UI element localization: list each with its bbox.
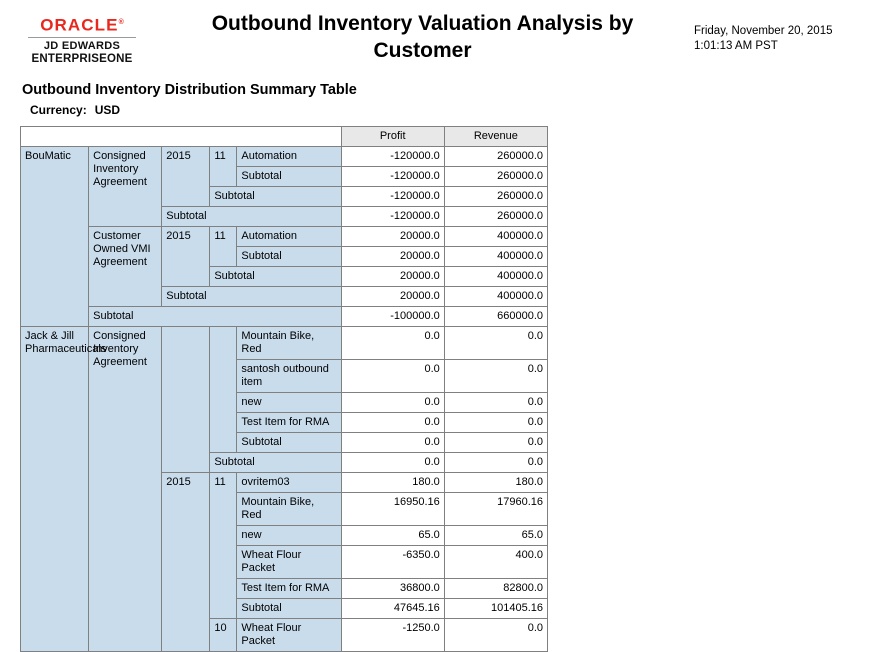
cell-customer: Jack & Jill Pharmaceuticals — [21, 327, 89, 652]
cell-item: santosh outbound item — [237, 360, 341, 393]
table-row: Jack & Jill Pharmaceuticals Consigned In… — [21, 327, 548, 360]
cell-agreement: Consigned Inventory Agreement — [89, 147, 162, 227]
table-row: Customer Owned VMI Agreement 2015 11 Aut… — [21, 227, 548, 247]
cell-profit: 20000.0 — [341, 287, 444, 307]
cell-period — [210, 327, 237, 453]
cell-year — [162, 327, 210, 473]
cell-item: new — [237, 393, 341, 413]
trademark-symbol: ® — [119, 19, 124, 26]
cell-year-subtotal: Subtotal — [162, 287, 341, 307]
cell-revenue: 180.0 — [444, 473, 547, 493]
logo-jd-edwards-text: JD EDWARDS — [26, 40, 138, 53]
currency-label: Currency: — [30, 103, 87, 117]
cell-profit: -6350.0 — [341, 546, 444, 579]
cell-revenue: 0.0 — [444, 619, 547, 652]
cell-profit: 16950.16 — [341, 493, 444, 526]
cell-profit: 0.0 — [341, 453, 444, 473]
cell-profit: 0.0 — [341, 393, 444, 413]
cell-year-subtotal: Subtotal — [162, 207, 341, 227]
cell-item: new — [237, 526, 341, 546]
cell-profit: 0.0 — [341, 433, 444, 453]
cell-revenue: 400.0 — [444, 546, 547, 579]
cell-item: Wheat Flour Packet — [237, 619, 341, 652]
currency-row: Currency:USD — [30, 103, 887, 117]
cell-year: 2015 — [162, 227, 210, 287]
cell-period-subtotal: Subtotal — [210, 453, 341, 473]
cell-revenue: 260000.0 — [444, 147, 547, 167]
cell-profit: 0.0 — [341, 413, 444, 433]
report-timestamp: Friday, November 20, 2015 1:01:13 AM PST — [694, 24, 833, 54]
currency-value: USD — [95, 103, 120, 117]
cell-revenue: 0.0 — [444, 360, 547, 393]
cell-item: Wheat Flour Packet — [237, 546, 341, 579]
cell-revenue: 65.0 — [444, 526, 547, 546]
cell-profit: -120000.0 — [341, 147, 444, 167]
cell-profit: 0.0 — [341, 360, 444, 393]
cell-profit: 180.0 — [341, 473, 444, 493]
cell-profit: -120000.0 — [341, 187, 444, 207]
summary-table-container: Profit Revenue BouMatic Consigned Invent… — [20, 126, 550, 652]
cell-profit: 20000.0 — [341, 247, 444, 267]
cell-profit: 20000.0 — [341, 227, 444, 247]
cell-period: 10 — [210, 619, 237, 652]
cell-revenue: 660000.0 — [444, 307, 547, 327]
cell-revenue: 0.0 — [444, 327, 547, 360]
cell-revenue: 0.0 — [444, 413, 547, 433]
cell-item-subtotal: Subtotal — [237, 247, 341, 267]
report-header: ORACLE® JD EDWARDS ENTERPRISEONE Outboun… — [0, 0, 887, 72]
cell-agreement: Customer Owned VMI Agreement — [89, 227, 162, 307]
cell-revenue: 260000.0 — [444, 207, 547, 227]
cell-profit: 20000.0 — [341, 267, 444, 287]
cell-customer-subtotal: Subtotal — [89, 307, 341, 327]
cell-profit: 65.0 — [341, 526, 444, 546]
cell-profit: 36800.0 — [341, 579, 444, 599]
column-header-revenue: Revenue — [444, 127, 547, 147]
column-header-profit: Profit — [341, 127, 444, 147]
cell-item: Mountain Bike, Red — [237, 327, 341, 360]
cell-item-subtotal: Subtotal — [237, 167, 341, 187]
cell-revenue: 260000.0 — [444, 167, 547, 187]
table-header-row: Profit Revenue — [21, 127, 548, 147]
section-title: Outbound Inventory Distribution Summary … — [22, 82, 887, 98]
cell-revenue: 260000.0 — [444, 187, 547, 207]
cell-profit: -120000.0 — [341, 167, 444, 187]
cell-profit: -100000.0 — [341, 307, 444, 327]
cell-revenue: 0.0 — [444, 393, 547, 413]
cell-revenue: 400000.0 — [444, 267, 547, 287]
cell-agreement: Consigned Inventory Agreement — [89, 327, 162, 652]
cell-revenue: 0.0 — [444, 433, 547, 453]
cell-item: Test Item for RMA — [237, 413, 341, 433]
table-row: BouMatic Consigned Inventory Agreement 2… — [21, 147, 548, 167]
oracle-wordmark: ORACLE® — [40, 14, 124, 35]
cell-revenue: 0.0 — [444, 453, 547, 473]
cell-period: 11 — [210, 147, 237, 187]
cell-item: Mountain Bike, Red — [237, 493, 341, 526]
cell-item: Automation — [237, 147, 341, 167]
logo-divider — [28, 37, 136, 38]
cell-revenue: 400000.0 — [444, 247, 547, 267]
cell-period-subtotal: Subtotal — [210, 267, 341, 287]
cell-profit: -1250.0 — [341, 619, 444, 652]
cell-profit: -120000.0 — [341, 207, 444, 227]
cell-year: 2015 — [162, 147, 210, 207]
oracle-jde-logo: ORACLE® JD EDWARDS ENTERPRISEONE — [26, 14, 138, 66]
inventory-summary-table: Profit Revenue BouMatic Consigned Invent… — [20, 126, 548, 652]
logo-enterpriseone-text: ENTERPRISEONE — [26, 53, 138, 66]
cell-customer: BouMatic — [21, 147, 89, 327]
cell-profit: 47645.16 — [341, 599, 444, 619]
cell-period: 11 — [210, 473, 237, 619]
cell-revenue: 82800.0 — [444, 579, 547, 599]
cell-item: Test Item for RMA — [237, 579, 341, 599]
cell-year: 2015 — [162, 473, 210, 652]
header-spacer — [21, 127, 342, 147]
cell-revenue: 101405.16 — [444, 599, 547, 619]
cell-revenue: 400000.0 — [444, 287, 547, 307]
cell-item: Automation — [237, 227, 341, 247]
cell-item-subtotal: Subtotal — [237, 433, 341, 453]
table-row: Subtotal -100000.0 660000.0 — [21, 307, 548, 327]
cell-revenue: 400000.0 — [444, 227, 547, 247]
cell-period-subtotal: Subtotal — [210, 187, 341, 207]
page-title: Outbound Inventory Valuation Analysis by… — [160, 10, 685, 64]
cell-period: 11 — [210, 227, 237, 267]
cell-item: ovritem03 — [237, 473, 341, 493]
cell-item-subtotal: Subtotal — [237, 599, 341, 619]
oracle-brand-text: ORACLE — [40, 16, 118, 35]
cell-revenue: 17960.16 — [444, 493, 547, 526]
cell-profit: 0.0 — [341, 327, 444, 360]
